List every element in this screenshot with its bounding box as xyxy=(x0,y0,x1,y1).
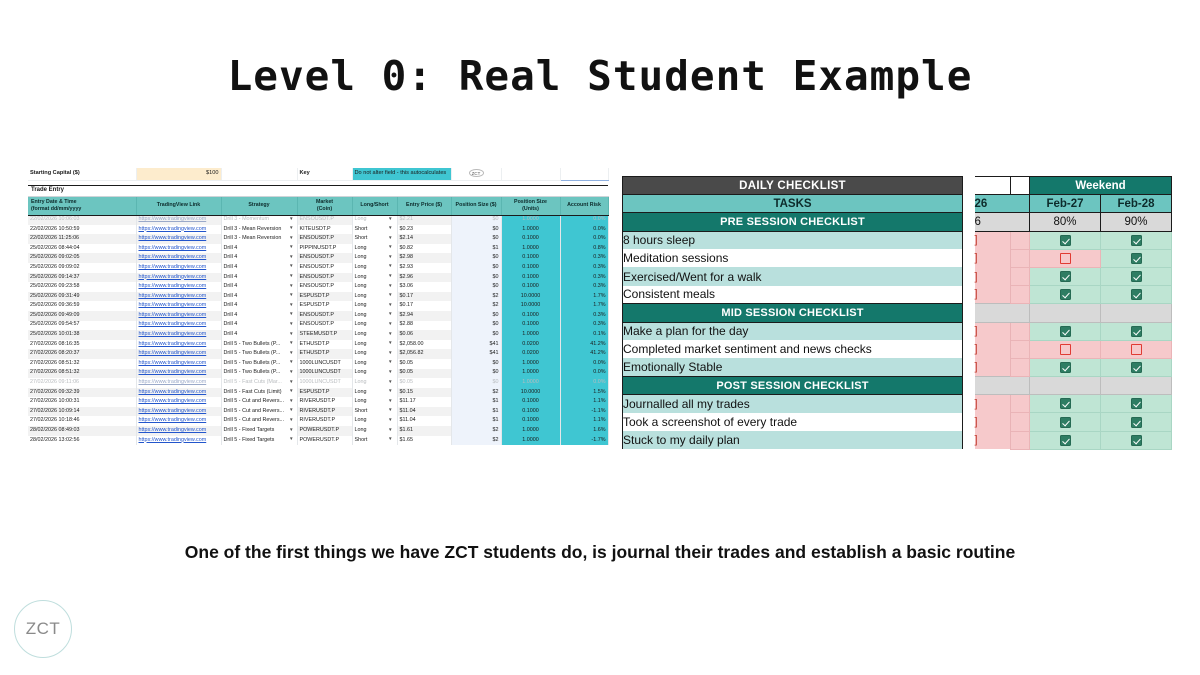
cell-entry-date[interactable]: 25/02/2026 09:02:05 xyxy=(28,253,136,263)
cell-entry-date[interactable]: 25/02/2026 09:31:49 xyxy=(28,292,136,302)
cell-position-size-dollar[interactable]: $0 xyxy=(451,378,501,388)
cell-position-size-dollar[interactable]: $2 xyxy=(451,301,501,311)
chevron-down-icon[interactable]: ▼ xyxy=(388,332,393,337)
cell-tradingview-link[interactable]: https://www.tradingview.com xyxy=(136,311,221,321)
chevron-down-icon[interactable]: ▼ xyxy=(388,236,393,241)
day-header-feb-27[interactable]: Feb-27 xyxy=(1030,195,1101,213)
cell-entry-price[interactable]: $2.94 xyxy=(397,311,451,321)
table-row[interactable]: 27/02/2026 08:20:37https://www.tradingvi… xyxy=(28,349,608,359)
cell-market-coin[interactable]: ENSOUSDT.P xyxy=(297,282,352,292)
checkbox-unchecked-icon[interactable] xyxy=(1131,344,1142,355)
chevron-down-icon[interactable]: ▼ xyxy=(388,312,393,317)
cell-long-short[interactable]: Long▼ xyxy=(352,301,397,311)
cell-position-size-dollar[interactable]: $0 xyxy=(451,369,501,379)
cell-strategy[interactable]: Drill 5 - Two Bullets (P...▼ xyxy=(221,369,297,379)
cell-long-short[interactable]: Long▼ xyxy=(352,359,397,369)
cell-entry-price[interactable]: $0.82 xyxy=(397,244,451,254)
cell-tradingview-link[interactable]: https://www.tradingview.com xyxy=(136,215,221,225)
checklist-cell[interactable] xyxy=(1101,286,1172,304)
cell-tradingview-link[interactable]: https://www.tradingview.com xyxy=(136,378,221,388)
checkbox-checked-icon[interactable] xyxy=(1060,398,1071,409)
chevron-down-icon[interactable]: ▼ xyxy=(289,360,294,365)
col-position-size-units[interactable]: Position Size (Units) xyxy=(501,196,560,215)
cell-long-short[interactable]: Short▼ xyxy=(352,407,397,417)
table-row[interactable]: 22/02/2026 10:06:03https://www.tradingvi… xyxy=(28,215,608,225)
cell-position-size-dollar[interactable]: $0 xyxy=(451,321,501,331)
cell-strategy[interactable]: Drill 4▼ xyxy=(221,330,297,340)
checklist-cell[interactable] xyxy=(1030,286,1101,304)
cell-long-short[interactable]: Long▼ xyxy=(352,397,397,407)
cell-strategy[interactable]: Drill 4▼ xyxy=(221,253,297,263)
table-row[interactable]: 27/02/2026 09:11:06https://www.tradingvi… xyxy=(28,378,608,388)
cell-entry-date[interactable]: 25/02/2026 09:54:57 xyxy=(28,321,136,331)
checkbox-checked-icon[interactable] xyxy=(1131,253,1142,264)
cell-strategy[interactable]: Drill 5 - Two Bullets (P...▼ xyxy=(221,340,297,350)
cell-position-size-dollar[interactable]: $2 xyxy=(451,388,501,398)
cell-tradingview-link[interactable]: https://www.tradingview.com xyxy=(136,273,221,283)
cell-position-size-dollar[interactable]: $2 xyxy=(451,292,501,302)
cell-long-short[interactable]: Long▼ xyxy=(352,378,397,388)
chevron-down-icon[interactable]: ▼ xyxy=(289,245,294,250)
cell-entry-date[interactable]: 27/02/2026 08:51:32 xyxy=(28,369,136,379)
table-row[interactable]: 22/02/2026 10:50:59https://www.tradingvi… xyxy=(28,225,608,235)
cell-long-short[interactable]: Long▼ xyxy=(352,340,397,350)
chevron-down-icon[interactable]: ▼ xyxy=(289,351,294,356)
cell-entry-date[interactable]: 25/02/2026 09:14:37 xyxy=(28,273,136,283)
chevron-down-icon[interactable]: ▼ xyxy=(289,332,294,337)
cell-entry-date[interactable]: 27/02/2026 08:51:32 xyxy=(28,359,136,369)
cell-entry-price[interactable]: $0.05 xyxy=(397,369,451,379)
cell-long-short[interactable]: Short▼ xyxy=(352,234,397,244)
col-tradingview-link[interactable]: TradingView Link xyxy=(136,196,221,215)
checklist-task-row[interactable]: Exercised/Went for a walk] xyxy=(623,267,1175,285)
cell-entry-price[interactable]: $1.61 xyxy=(397,426,451,436)
cell-position-size-dollar[interactable]: $0 xyxy=(451,263,501,273)
cell-entry-date[interactable]: 27/02/2026 10:18:46 xyxy=(28,416,136,426)
chevron-down-icon[interactable]: ▼ xyxy=(388,274,393,279)
cell-entry-price[interactable]: $2,056.82 xyxy=(397,349,451,359)
chevron-down-icon[interactable]: ▼ xyxy=(289,428,294,433)
cell-entry-price[interactable]: $11.04 xyxy=(397,416,451,426)
cell-market-coin[interactable]: POWERUSDT.P xyxy=(297,436,352,446)
cell-entry-date[interactable]: 25/02/2026 10:01:38 xyxy=(28,330,136,340)
table-row[interactable]: 27/02/2026 10:18:46https://www.tradingvi… xyxy=(28,416,608,426)
cell-entry-price[interactable]: $3.06 xyxy=(397,282,451,292)
cell-market-coin[interactable]: RIVERUSDT.P xyxy=(297,397,352,407)
cell-strategy[interactable]: Drill 5 - Fixed Targets▼ xyxy=(221,436,297,446)
chevron-down-icon[interactable]: ▼ xyxy=(289,408,294,413)
chevron-down-icon[interactable]: ▼ xyxy=(289,303,294,308)
cell-market-coin[interactable]: ENSOUSDT.P xyxy=(297,273,352,283)
checklist-cell[interactable] xyxy=(1030,340,1101,358)
checkbox-checked-icon[interactable] xyxy=(1060,235,1071,246)
table-row[interactable]: 25/02/2026 09:54:57https://www.tradingvi… xyxy=(28,321,608,331)
checklist-cell[interactable] xyxy=(1030,413,1101,431)
checklist-task-row[interactable]: Meditation sessions] xyxy=(623,249,1175,267)
checklist-cell[interactable] xyxy=(1030,322,1101,340)
cell-position-size-dollar[interactable]: $0 xyxy=(451,273,501,283)
cell-entry-date[interactable]: 25/02/2026 09:23:58 xyxy=(28,282,136,292)
checklist-cell[interactable] xyxy=(1030,431,1101,449)
table-row[interactable]: 25/02/2026 10:01:38https://www.tradingvi… xyxy=(28,330,608,340)
cell-entry-date[interactable]: 28/02/2026 08:49:03 xyxy=(28,426,136,436)
chevron-down-icon[interactable]: ▼ xyxy=(388,341,393,346)
checkbox-unchecked-icon[interactable] xyxy=(1060,253,1071,264)
cell-entry-price[interactable]: $0.05 xyxy=(397,378,451,388)
checklist-task-row[interactable]: Took a screenshot of every trade] xyxy=(623,413,1175,431)
checklist-cell[interactable] xyxy=(1101,267,1172,285)
cell-tradingview-link[interactable]: https://www.tradingview.com xyxy=(136,330,221,340)
cell-market-coin[interactable]: ENSOUSDT.P xyxy=(297,321,352,331)
cell-strategy[interactable]: Drill 4▼ xyxy=(221,282,297,292)
cell-entry-date[interactable]: 27/02/2026 09:11:06 xyxy=(28,378,136,388)
cell-market-coin[interactable]: ESPUSDT.P xyxy=(297,292,352,302)
checklist-cell[interactable] xyxy=(1101,231,1172,249)
cell-strategy[interactable]: Drill 3 - Mean Reversion▼ xyxy=(221,225,297,235)
cell-position-size-dollar[interactable]: $2 xyxy=(451,436,501,446)
cell-tradingview-link[interactable]: https://www.tradingview.com xyxy=(136,397,221,407)
cell-strategy[interactable]: Drill 4▼ xyxy=(221,263,297,273)
cell-strategy[interactable]: Drill 5 - Two Bullets (P...▼ xyxy=(221,359,297,369)
cell-entry-date[interactable]: 27/02/2026 09:32:39 xyxy=(28,388,136,398)
chevron-down-icon[interactable]: ▼ xyxy=(289,293,294,298)
cell-entry-date[interactable]: 25/02/2026 09:36:59 xyxy=(28,301,136,311)
chevron-down-icon[interactable]: ▼ xyxy=(388,370,393,375)
cell-entry-price[interactable]: $0.23 xyxy=(397,225,451,235)
chevron-down-icon[interactable]: ▼ xyxy=(388,303,393,308)
cell-entry-price[interactable]: $2,058.00 xyxy=(397,340,451,350)
cell-market-coin[interactable]: PIPPINUSDT.P xyxy=(297,244,352,254)
cell-position-size-dollar[interactable]: $1 xyxy=(451,397,501,407)
cell-long-short[interactable]: Long▼ xyxy=(352,311,397,321)
cell-strategy[interactable]: Drill 5 - Cut and Revers...▼ xyxy=(221,416,297,426)
cell-long-short[interactable]: Long▼ xyxy=(352,369,397,379)
cell-market-coin[interactable]: KITEUSDT.P xyxy=(297,225,352,235)
chevron-down-icon[interactable]: ▼ xyxy=(388,226,393,231)
table-row[interactable]: 27/02/2026 08:16:35https://www.tradingvi… xyxy=(28,340,608,350)
table-row[interactable]: 25/02/2026 09:14:37https://www.tradingvi… xyxy=(28,273,608,283)
cell-position-size-dollar[interactable]: $2 xyxy=(451,426,501,436)
cell-long-short[interactable]: Long▼ xyxy=(352,330,397,340)
checklist-cell[interactable] xyxy=(1101,340,1172,358)
cell-entry-price[interactable]: $2.98 xyxy=(397,253,451,263)
cell-strategy[interactable]: Drill 5 - Two Bullets (P...▼ xyxy=(221,349,297,359)
checkbox-checked-icon[interactable] xyxy=(1060,271,1071,282)
chevron-down-icon[interactable]: ▼ xyxy=(388,437,393,442)
chevron-down-icon[interactable]: ▼ xyxy=(289,418,294,423)
cell-position-size-dollar[interactable]: $0 xyxy=(451,359,501,369)
cell-entry-price[interactable]: $0.15 xyxy=(397,388,451,398)
cell-tradingview-link[interactable]: https://www.tradingview.com xyxy=(136,369,221,379)
checkbox-checked-icon[interactable] xyxy=(1131,326,1142,337)
cell-entry-date[interactable]: 25/02/2026 08:44:04 xyxy=(28,244,136,254)
col-market[interactable]: Market (Coin) xyxy=(297,196,352,215)
chevron-down-icon[interactable]: ▼ xyxy=(289,274,294,279)
col-account-risk[interactable]: Account Risk xyxy=(560,196,608,215)
col-entry-price[interactable]: Entry Price ($) xyxy=(397,196,451,215)
cell-market-coin[interactable]: ETHUSDT.P xyxy=(297,349,352,359)
cell-entry-date[interactable]: 28/02/2026 13:02:56 xyxy=(28,436,136,446)
checkbox-checked-icon[interactable] xyxy=(1060,326,1071,337)
cell-tradingview-link[interactable]: https://www.tradingview.com xyxy=(136,292,221,302)
cell-market-coin[interactable]: ENSOUSDT.P xyxy=(297,234,352,244)
cell-entry-price[interactable]: $0.17 xyxy=(397,301,451,311)
checklist-cell[interactable] xyxy=(1030,395,1101,413)
chevron-down-icon[interactable]: ▼ xyxy=(289,322,294,327)
table-row[interactable]: 25/02/2026 09:31:49https://www.tradingvi… xyxy=(28,292,608,302)
checklist-cell[interactable] xyxy=(1101,358,1172,376)
checklist-cell[interactable] xyxy=(1101,249,1172,267)
cell-entry-price[interactable]: $0.06 xyxy=(397,330,451,340)
checkbox-checked-icon[interactable] xyxy=(1060,435,1071,446)
cell-strategy[interactable]: Drill 3 - Momentum▼ xyxy=(221,215,297,225)
table-row[interactable]: 25/02/2026 09:49:09https://www.tradingvi… xyxy=(28,311,608,321)
cell-entry-date[interactable]: 25/02/2026 09:09:02 xyxy=(28,263,136,273)
chevron-down-icon[interactable]: ▼ xyxy=(388,408,393,413)
cell-entry-date[interactable]: 27/02/2026 08:16:35 xyxy=(28,340,136,350)
chevron-down-icon[interactable]: ▼ xyxy=(289,389,294,394)
cell-strategy[interactable]: Drill 4▼ xyxy=(221,273,297,283)
trade-journal-spreadsheet[interactable]: Starting Capital ($) $100 Key Do not alt… xyxy=(28,168,608,445)
table-row[interactable]: 25/02/2026 09:02:05https://www.tradingvi… xyxy=(28,253,608,263)
cell-entry-price[interactable]: $11.17 xyxy=(397,397,451,407)
chevron-down-icon[interactable]: ▼ xyxy=(289,226,294,231)
cell-long-short[interactable]: Long▼ xyxy=(352,349,397,359)
checklist-task-row[interactable]: Stuck to my daily plan] xyxy=(623,431,1175,449)
cell-tradingview-link[interactable]: https://www.tradingview.com xyxy=(136,321,221,331)
table-row[interactable]: 27/02/2026 10:09:14https://www.tradingvi… xyxy=(28,407,608,417)
checklist-task-row[interactable]: Emotionally Stable] xyxy=(623,358,1175,376)
col-position-size-dollar[interactable]: Position Size ($) xyxy=(451,196,501,215)
cell-strategy[interactable]: Drill 3 - Mean Reversion▼ xyxy=(221,234,297,244)
chevron-down-icon[interactable]: ▼ xyxy=(289,399,294,404)
checklist-cell[interactable] xyxy=(1030,267,1101,285)
cell-entry-date[interactable]: 27/02/2026 10:00:31 xyxy=(28,397,136,407)
cell-market-coin[interactable]: ENSOUSDT.P xyxy=(297,253,352,263)
chevron-down-icon[interactable]: ▼ xyxy=(388,360,393,365)
checklist-cell[interactable] xyxy=(1030,231,1101,249)
cell-market-coin[interactable]: 1000LUNCUSDT xyxy=(297,369,352,379)
table-row[interactable]: 28/02/2026 13:02:56https://www.tradingvi… xyxy=(28,436,608,446)
cell-entry-price[interactable]: $1.65 xyxy=(397,436,451,446)
chevron-down-icon[interactable]: ▼ xyxy=(289,380,294,385)
cell-market-coin[interactable]: 1000LUNCUSDT xyxy=(297,378,352,388)
cell-tradingview-link[interactable]: https://www.tradingview.com xyxy=(136,282,221,292)
checklist-task-row[interactable]: Make a plan for the day] xyxy=(623,322,1175,340)
checklist-task-row[interactable]: Consistent meals] xyxy=(623,286,1175,304)
checklist-cell[interactable] xyxy=(1101,431,1172,449)
checklist-cell[interactable] xyxy=(1101,395,1172,413)
cell-market-coin[interactable]: ENSOUSDT.P xyxy=(297,215,352,225)
cell-strategy[interactable]: Drill 4▼ xyxy=(221,311,297,321)
table-row[interactable]: 28/02/2026 08:49:03https://www.tradingvi… xyxy=(28,426,608,436)
chevron-down-icon[interactable]: ▼ xyxy=(289,255,294,260)
daily-checklist-panel[interactable]: DAILY CHECKLIST Weekend TASKS 26 Feb-27 … xyxy=(622,176,1174,450)
col-entry-date[interactable]: Entry Date & Time (format dd/mm/yyyy xyxy=(28,196,136,215)
cell-tradingview-link[interactable]: https://www.tradingview.com xyxy=(136,301,221,311)
checklist-task-row[interactable]: Journalled all my trades] xyxy=(623,395,1175,413)
cell-strategy[interactable]: Drill 5 - Cut and Revers...▼ xyxy=(221,397,297,407)
checklist-cell[interactable] xyxy=(1101,413,1172,431)
checkbox-checked-icon[interactable] xyxy=(1131,417,1142,428)
checklist-task-row[interactable]: Completed market sentiment and news chec… xyxy=(623,340,1175,358)
cell-market-coin[interactable]: RIVERUSDT.P xyxy=(297,416,352,426)
checkbox-unchecked-icon[interactable] xyxy=(1060,344,1071,355)
cell-market-coin[interactable]: RIVERUSDT.P xyxy=(297,407,352,417)
chevron-down-icon[interactable]: ▼ xyxy=(289,236,294,241)
cell-tradingview-link[interactable]: https://www.tradingview.com xyxy=(136,244,221,254)
cell-market-coin[interactable]: ENSOUSDT.P xyxy=(297,311,352,321)
table-row[interactable]: 27/02/2026 08:51:32https://www.tradingvi… xyxy=(28,359,608,369)
chevron-down-icon[interactable]: ▼ xyxy=(289,264,294,269)
chevron-down-icon[interactable]: ▼ xyxy=(289,370,294,375)
cell-entry-date[interactable]: 27/02/2026 08:20:37 xyxy=(28,349,136,359)
chevron-down-icon[interactable]: ▼ xyxy=(388,380,393,385)
cell-long-short[interactable]: Long▼ xyxy=(352,416,397,426)
cell-long-short[interactable]: Long▼ xyxy=(352,321,397,331)
cell-position-size-dollar[interactable]: $0 xyxy=(451,253,501,263)
cell-market-coin[interactable]: STEEMUSDT.P xyxy=(297,330,352,340)
cell-strategy[interactable]: Drill 4▼ xyxy=(221,244,297,254)
cell-long-short[interactable]: Long▼ xyxy=(352,244,397,254)
cell-strategy[interactable]: Drill 5 - Cut and Revers...▼ xyxy=(221,407,297,417)
cell-strategy[interactable]: Drill 4▼ xyxy=(221,301,297,311)
cell-long-short[interactable]: Short▼ xyxy=(352,225,397,235)
cell-market-coin[interactable]: 1000LUNCUSDT xyxy=(297,359,352,369)
table-row[interactable]: 25/02/2026 09:36:59https://www.tradingvi… xyxy=(28,301,608,311)
cell-long-short[interactable]: Long▼ xyxy=(352,215,397,225)
table-row[interactable]: 25/02/2026 09:09:02https://www.tradingvi… xyxy=(28,263,608,273)
checkbox-checked-icon[interactable] xyxy=(1131,398,1142,409)
cell-position-size-dollar[interactable]: $0 xyxy=(451,234,501,244)
table-row[interactable]: 22/02/2026 11:25:06https://www.tradingvi… xyxy=(28,234,608,244)
cell-tradingview-link[interactable]: https://www.tradingview.com xyxy=(136,416,221,426)
cell-entry-price[interactable]: $2.21 xyxy=(397,215,451,225)
checkbox-checked-icon[interactable] xyxy=(1131,271,1142,282)
cell-entry-price[interactable]: $2.93 xyxy=(397,263,451,273)
cell-strategy[interactable]: Drill 5 - Fast Cuts (Limit)▼ xyxy=(221,388,297,398)
cell-entry-price[interactable]: $11.04 xyxy=(397,407,451,417)
cell-tradingview-link[interactable]: https://www.tradingview.com xyxy=(136,388,221,398)
table-row[interactable]: 27/02/2026 09:32:39https://www.tradingvi… xyxy=(28,388,608,398)
cell-strategy[interactable]: Drill 4▼ xyxy=(221,292,297,302)
checkbox-checked-icon[interactable] xyxy=(1060,289,1071,300)
cell-long-short[interactable]: Long▼ xyxy=(352,273,397,283)
cell-entry-price[interactable]: $0.05 xyxy=(397,359,451,369)
chevron-down-icon[interactable]: ▼ xyxy=(289,341,294,346)
checklist-task-row[interactable]: 8 hours sleep] xyxy=(623,231,1175,249)
table-row[interactable]: 25/02/2026 09:23:58https://www.tradingvi… xyxy=(28,282,608,292)
day-header-feb-28[interactable]: Feb-28 xyxy=(1101,195,1172,213)
cell-market-coin[interactable]: POWERUSDT.P xyxy=(297,426,352,436)
cell-entry-date[interactable]: 25/02/2026 09:49:09 xyxy=(28,311,136,321)
cell-position-size-dollar[interactable]: $0 xyxy=(451,311,501,321)
cell-position-size-dollar[interactable]: $1 xyxy=(451,416,501,426)
cell-tradingview-link[interactable]: https://www.tradingview.com xyxy=(136,234,221,244)
cell-market-coin[interactable]: ESPUSDT.P xyxy=(297,388,352,398)
col-long-short[interactable]: Long/Short xyxy=(352,196,397,215)
cell-position-size-dollar[interactable]: $0 xyxy=(451,215,501,225)
chevron-down-icon[interactable]: ▼ xyxy=(388,245,393,250)
cell-long-short[interactable]: Long▼ xyxy=(352,426,397,436)
cell-position-size-dollar[interactable]: $0 xyxy=(451,282,501,292)
cell-entry-price[interactable]: $2.88 xyxy=(397,321,451,331)
chevron-down-icon[interactable]: ▼ xyxy=(388,399,393,404)
checkbox-checked-icon[interactable] xyxy=(1060,417,1071,428)
cell-tradingview-link[interactable]: https://www.tradingview.com xyxy=(136,426,221,436)
checklist-cell[interactable] xyxy=(1101,322,1172,340)
cell-tradingview-link[interactable]: https://www.tradingview.com xyxy=(136,225,221,235)
cell-tradingview-link[interactable]: https://www.tradingview.com xyxy=(136,263,221,273)
chevron-down-icon[interactable]: ▼ xyxy=(388,284,393,289)
cell-entry-price[interactable]: $2.96 xyxy=(397,273,451,283)
checklist-cell[interactable] xyxy=(1030,358,1101,376)
cell-market-coin[interactable]: ENSOUSDT.P xyxy=(297,263,352,273)
col-strategy[interactable]: Strategy xyxy=(221,196,297,215)
chevron-down-icon[interactable]: ▼ xyxy=(388,351,393,356)
checkbox-checked-icon[interactable] xyxy=(1060,362,1071,373)
cell-strategy[interactable]: Drill 5 - Fixed Targets▼ xyxy=(221,426,297,436)
cell-long-short[interactable]: Long▼ xyxy=(352,253,397,263)
cell-long-short[interactable]: Long▼ xyxy=(352,263,397,273)
chevron-down-icon[interactable]: ▼ xyxy=(388,264,393,269)
starting-capital-value[interactable]: $100 xyxy=(136,168,221,180)
cell-position-size-dollar[interactable]: $0 xyxy=(451,225,501,235)
chevron-down-icon[interactable]: ▼ xyxy=(289,284,294,289)
checkbox-checked-icon[interactable] xyxy=(1131,289,1142,300)
cell-tradingview-link[interactable]: https://www.tradingview.com xyxy=(136,340,221,350)
cell-entry-date[interactable]: 27/02/2026 10:09:14 xyxy=(28,407,136,417)
cell-strategy[interactable]: Drill 4▼ xyxy=(221,321,297,331)
cell-market-coin[interactable]: ESPUSDT.P xyxy=(297,301,352,311)
cell-entry-date[interactable]: 22/02/2026 10:50:59 xyxy=(28,225,136,235)
chevron-down-icon[interactable]: ▼ xyxy=(289,217,294,222)
cell-position-size-dollar[interactable]: $0 xyxy=(451,330,501,340)
checkbox-checked-icon[interactable] xyxy=(1131,235,1142,246)
cell-tradingview-link[interactable]: https://www.tradingview.com xyxy=(136,253,221,263)
table-row[interactable]: 25/02/2026 08:44:04https://www.tradingvi… xyxy=(28,244,608,254)
chevron-down-icon[interactable]: ▼ xyxy=(388,217,393,222)
cell-entry-price[interactable]: $0.17 xyxy=(397,292,451,302)
cell-market-coin[interactable]: ETHUSDT.P xyxy=(297,340,352,350)
cell-tradingview-link[interactable]: https://www.tradingview.com xyxy=(136,349,221,359)
cell-tradingview-link[interactable]: https://www.tradingview.com xyxy=(136,407,221,417)
cell-position-size-dollar[interactable]: $41 xyxy=(451,340,501,350)
table-row[interactable]: 27/02/2026 08:51:32https://www.tradingvi… xyxy=(28,369,608,379)
cell-entry-price[interactable]: $2.14 xyxy=(397,234,451,244)
cell-position-size-dollar[interactable]: $1 xyxy=(451,407,501,417)
chevron-down-icon[interactable]: ▼ xyxy=(289,312,294,317)
cell-long-short[interactable]: Long▼ xyxy=(352,292,397,302)
checkbox-checked-icon[interactable] xyxy=(1131,435,1142,446)
cell-long-short[interactable]: Long▼ xyxy=(352,388,397,398)
chevron-down-icon[interactable]: ▼ xyxy=(388,293,393,298)
chevron-down-icon[interactable]: ▼ xyxy=(388,322,393,327)
cell-long-short[interactable]: Short▼ xyxy=(352,436,397,446)
chevron-down-icon[interactable]: ▼ xyxy=(388,389,393,394)
chevron-down-icon[interactable]: ▼ xyxy=(388,428,393,433)
cell-position-size-dollar[interactable]: $1 xyxy=(451,244,501,254)
chevron-down-icon[interactable]: ▼ xyxy=(388,418,393,423)
checklist-cell[interactable] xyxy=(1030,249,1101,267)
chevron-down-icon[interactable]: ▼ xyxy=(289,437,294,442)
cell-entry-date[interactable]: 22/02/2026 10:06:03 xyxy=(28,215,136,225)
cell-strategy[interactable]: Drill 5 - Fast Cuts (Mar...▼ xyxy=(221,378,297,388)
cell-position-size-dollar[interactable]: $41 xyxy=(451,349,501,359)
cell-entry-date[interactable]: 22/02/2026 11:25:06 xyxy=(28,234,136,244)
cell-long-short[interactable]: Long▼ xyxy=(352,282,397,292)
checkbox-checked-icon[interactable] xyxy=(1131,362,1142,373)
